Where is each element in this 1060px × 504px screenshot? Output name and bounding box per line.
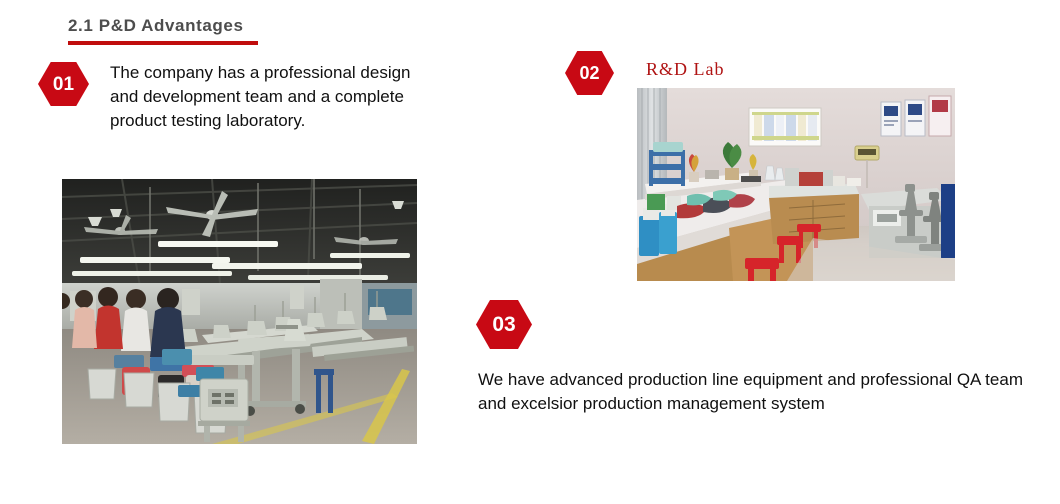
- title-underline-rule: [68, 41, 258, 45]
- slide-canvas: 2.1 P&D Advantages 01 The company has a …: [0, 0, 1060, 504]
- item-01-text: The company has a professional design an…: [110, 61, 430, 133]
- badge-03: 03: [476, 300, 532, 349]
- badge-02: 02: [565, 51, 614, 95]
- factory-production-floor-photo: [62, 179, 417, 444]
- rd-lab-photo: [637, 88, 955, 281]
- badge-01: 01: [38, 62, 89, 106]
- rd-lab-caption: R&D Lab: [646, 59, 725, 80]
- lab-photo-illustration: [637, 88, 955, 281]
- item-03-text: We have advanced production line equipme…: [478, 368, 1026, 416]
- page-title: 2.1 P&D Advantages: [68, 16, 244, 36]
- factory-photo-illustration: [62, 179, 417, 444]
